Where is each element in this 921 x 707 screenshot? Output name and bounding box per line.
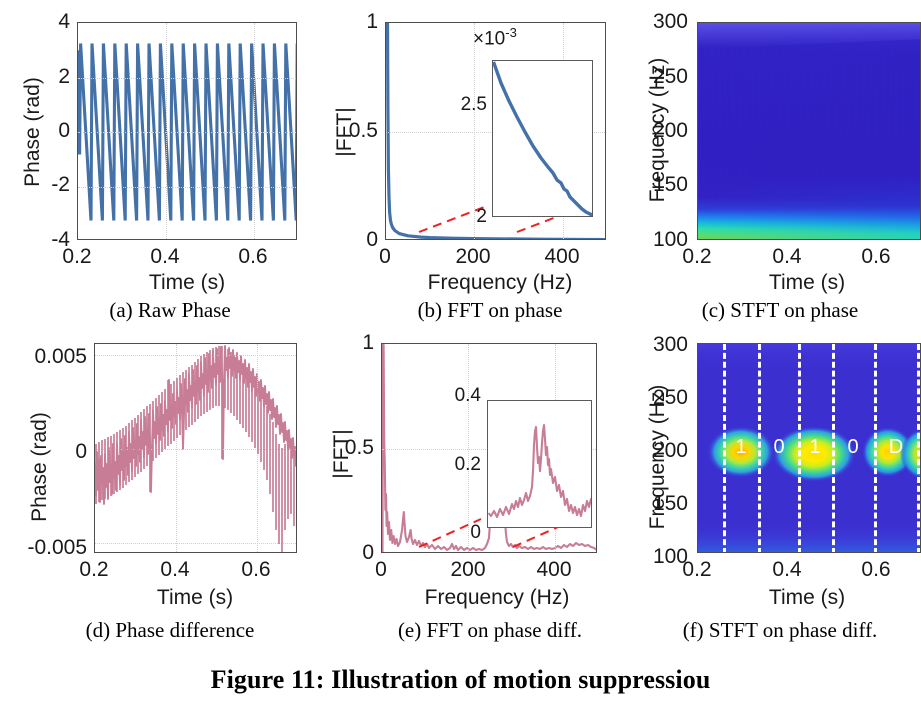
panel-e-subcaption: (e) FFT on phase diff. <box>330 618 650 643</box>
panel-d-noise-overlay <box>95 344 297 553</box>
panel-c-xtick-04: 0.4 <box>755 245 819 269</box>
panel-d-xlabel: Time (s) <box>115 586 275 610</box>
panel-b-inset-ytick-25: 2.5 <box>443 94 487 116</box>
panel-b-inset-exponent: ×10-3 <box>473 25 517 50</box>
panel-b-inset-trace <box>493 61 593 217</box>
panel-a-subcaption: (a) Raw Phase <box>30 298 310 323</box>
panel-f-bit-label-5: D <box>876 436 916 459</box>
panel-b-xtick-200: 200 <box>441 245 505 269</box>
panel-b-subcaption: (b) FFT on phase <box>340 298 640 323</box>
panel-f-ytick-300: 300 <box>630 333 688 357</box>
panel-c-ytick-250: 250 <box>630 65 688 89</box>
panel-e-inset-ytick-02: 0.2 <box>437 454 481 476</box>
panel-a-xtick-04: 0.4 <box>133 245 197 269</box>
panel-a-gridline-h3 <box>78 187 297 188</box>
panel-f-bit-label-2: 0 <box>761 436 797 459</box>
panel-b-xtick-400: 400 <box>530 245 594 269</box>
panel-b-inset-exponent-base: ×10 <box>473 28 505 49</box>
figure-11: Phase (rad) 4 2 0 -2 -4 0.2 0.4 0.6 Time… <box>0 0 921 707</box>
panel-f-subcaption: (f) STFT on phase diff. <box>630 618 921 643</box>
panel-a-ytick-2: 2 <box>28 65 70 89</box>
panel-f-ytick-250: 250 <box>630 386 688 410</box>
panel-b-inset-axes <box>492 60 593 217</box>
panel-e-xtick-400: 400 <box>522 558 586 582</box>
panel-d-axes <box>94 343 297 553</box>
panel-f-xtick-02: 0.2 <box>665 558 729 582</box>
panel-e-inset-axes <box>487 400 592 528</box>
panel-d-xtick-02: 0.2 <box>62 558 126 582</box>
panel-e-xtick-0: 0 <box>349 558 413 582</box>
panel-c-ytick-150: 150 <box>630 173 688 197</box>
panel-e-xlabel: Frequency (Hz) <box>397 586 597 610</box>
panel-d-ytick-0005: 0.005 <box>10 345 87 369</box>
panel-d-subcaption: (d) Phase difference <box>20 618 320 643</box>
panel-c-xtick-06: 0.6 <box>844 245 908 269</box>
panel-a-xtick-02: 0.2 <box>45 245 109 269</box>
panel-b-ytick-1: 1 <box>340 10 378 34</box>
panel-f-bit-label-1: 1 <box>724 436 758 459</box>
panel-a-xtick-06: 0.6 <box>221 245 285 269</box>
panel-f-xlabel: Time (s) <box>727 586 887 610</box>
panel-e-ytick-05: 0.5 <box>319 436 374 460</box>
panel-f-ytick-200: 200 <box>630 439 688 463</box>
panel-b-xtick-0: 0 <box>353 245 417 269</box>
panel-a-ytick-m2: -2 <box>20 173 70 197</box>
panel-c-xlabel: Time (s) <box>727 271 887 295</box>
panel-a-xlabel: Time (s) <box>107 271 267 295</box>
panel-f-bit-label-4: 0 <box>834 436 872 459</box>
panel-a-gridline-h2 <box>78 132 297 133</box>
panel-e-inset-trace <box>488 401 592 528</box>
panel-d-ytick-0: 0 <box>10 440 87 464</box>
panel-e-ytick-1: 1 <box>336 331 374 355</box>
panel-c-ytick-300: 300 <box>630 10 688 34</box>
panel-f-bit-label-3: 1 <box>798 436 832 459</box>
panel-f-xtick-04: 0.4 <box>755 558 819 582</box>
panel-e-inset-ytick-04: 0.4 <box>437 385 481 407</box>
panel-b-xlabel: Frequency (Hz) <box>400 271 600 295</box>
panel-b-ytick-05: 0.5 <box>323 119 378 143</box>
panel-f-xtick-06: 0.6 <box>844 558 908 582</box>
panel-e-inset-ytick-0: 0 <box>437 522 481 544</box>
panel-c-subcaption: (c) STFT on phase <box>640 298 920 323</box>
panel-b-inset-ytick-2: 2 <box>443 206 487 228</box>
figure-caption: Figure 11: Illustration of motion suppre… <box>0 665 921 695</box>
panel-f-spectrogram: 1 0 1 0 D <box>697 343 921 553</box>
panel-c-spectrogram <box>697 22 921 240</box>
panel-f-symbol-boundary-6 <box>917 344 920 553</box>
panel-c-xtick-02: 0.2 <box>665 245 729 269</box>
panel-a-ytick-4: 4 <box>28 10 70 34</box>
panel-e-xtick-200: 200 <box>436 558 500 582</box>
panel-b-inset-exponent-power: -3 <box>505 25 517 40</box>
panel-d-ylabel: Phase (rad) <box>28 392 52 542</box>
panel-d-xtick-04: 0.4 <box>143 558 207 582</box>
panel-c-spectrogram-image <box>698 23 921 240</box>
panel-c-ytick-200: 200 <box>630 119 688 143</box>
panel-f-ytick-150: 150 <box>630 492 688 516</box>
panel-a-axes <box>77 22 297 240</box>
panel-a-ytick-0: 0 <box>28 119 70 143</box>
panel-d-xtick-06: 0.6 <box>224 558 288 582</box>
panel-a-gridline-h1 <box>78 78 297 79</box>
panel-d-ytick-m0005: -0.005 <box>2 536 87 560</box>
